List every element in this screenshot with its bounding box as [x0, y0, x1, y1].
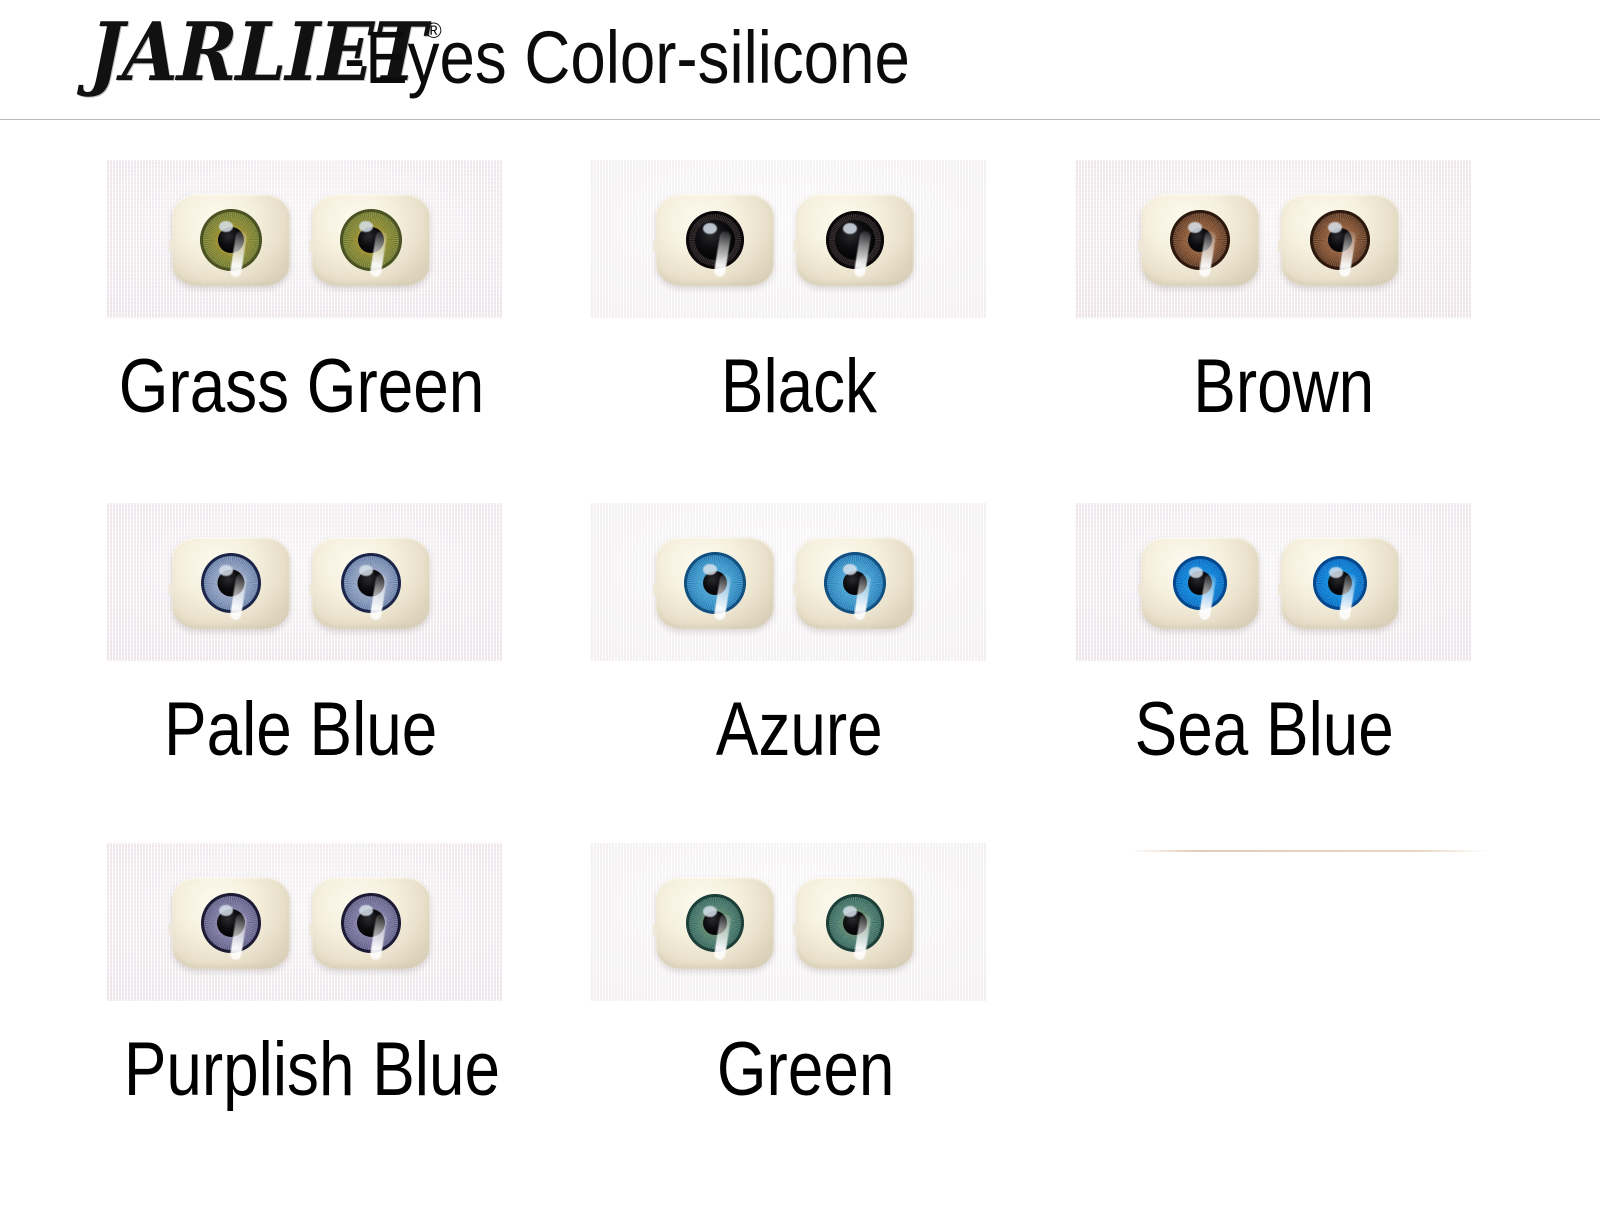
eye-color-label: Sea Blue: [1135, 687, 1394, 773]
eye-edge-notch: [653, 923, 659, 935]
stray-hairline-artifact: [1130, 850, 1488, 852]
silicone-eye-right: [312, 194, 430, 286]
pupil-glint: [359, 565, 373, 576]
eye-edge-notch: [169, 240, 175, 252]
pupil-glint: [1188, 222, 1202, 233]
eye-edge-notch: [793, 583, 799, 595]
silicone-eye-right: [312, 537, 430, 629]
eye-color-label: Black: [721, 344, 877, 430]
eye-color-label: Green: [717, 1027, 894, 1113]
photo-vignette: [590, 503, 986, 661]
silicone-eye-left: [1141, 194, 1259, 286]
eye-edge-notch: [169, 583, 175, 595]
eye-color-cell[interactable]: Brown: [1075, 160, 1471, 318]
silicone-eye-left: [656, 194, 774, 286]
photo-vignette: [1075, 160, 1471, 318]
eye-color-label: Brown: [1193, 344, 1374, 430]
silicone-eye-left: [172, 194, 290, 286]
pupil-glint: [359, 905, 373, 916]
eye-color-cell[interactable]: Azure: [590, 503, 986, 661]
eye-pair-photo[interactable]: [590, 503, 986, 661]
eye-color-cell[interactable]: Green: [590, 843, 986, 1001]
eye-pair-photo[interactable]: [590, 843, 986, 1001]
eye-edge-notch: [1138, 583, 1144, 595]
eye-color-label: Azure: [716, 687, 883, 773]
pupil-glint: [1189, 567, 1203, 578]
silicone-eye-left: [1141, 537, 1259, 629]
pupil-glint: [219, 565, 233, 576]
eye-pair-photo[interactable]: [106, 503, 502, 661]
eye-edge-notch: [653, 240, 659, 252]
eye-color-label: Grass Green: [119, 344, 484, 430]
eye-edge-notch: [1278, 240, 1284, 252]
photo-vignette: [106, 160, 502, 318]
eye-edge-notch: [793, 240, 799, 252]
silicone-eye-right: [796, 877, 914, 969]
photo-vignette: [590, 843, 986, 1001]
eye-color-cell[interactable]: Grass Green: [106, 160, 502, 318]
pupil-glint: [703, 223, 717, 234]
eye-pair-photo[interactable]: [1075, 503, 1471, 661]
eye-color-cell[interactable]: Purplish Blue: [106, 843, 502, 1001]
silicone-eye-left: [172, 877, 290, 969]
eye-edge-notch: [1138, 240, 1144, 252]
eye-pair-photo[interactable]: [106, 160, 502, 318]
eye-edge-notch: [653, 583, 659, 595]
eye-edge-notch: [309, 240, 315, 252]
eye-color-cell[interactable]: Pale Blue: [106, 503, 502, 661]
photo-vignette: [106, 503, 502, 661]
silicone-eye-left: [656, 537, 774, 629]
eye-edge-notch: [309, 923, 315, 935]
photo-vignette: [590, 160, 986, 318]
silicone-eye-right: [796, 537, 914, 629]
pupil-glint: [1328, 222, 1342, 233]
page-title: -Eyes Color-silicone: [344, 16, 910, 100]
page-header: JARLIET ® -Eyes Color-silicone: [0, 0, 1600, 120]
eye-edge-notch: [309, 583, 315, 595]
pupil-glint: [843, 223, 857, 234]
eye-pair-photo[interactable]: [590, 160, 986, 318]
eye-color-cell[interactable]: Sea Blue: [1075, 503, 1471, 661]
pupil-glint: [843, 906, 857, 917]
silicone-eye-right: [1281, 194, 1399, 286]
eye-color-cell[interactable]: Black: [590, 160, 986, 318]
eye-pair-photo[interactable]: [1075, 160, 1471, 318]
eye-color-label: Pale Blue: [164, 687, 437, 773]
pupil-glint: [703, 906, 717, 917]
silicone-eye-right: [312, 877, 430, 969]
eye-pair-photo[interactable]: [106, 843, 502, 1001]
silicone-eye-right: [1281, 537, 1399, 629]
pupil-glint: [219, 905, 233, 916]
photo-vignette: [1075, 503, 1471, 661]
photo-vignette: [106, 843, 502, 1001]
eye-color-label: Purplish Blue: [124, 1027, 500, 1113]
eye-edge-notch: [169, 923, 175, 935]
silicone-eye-left: [172, 537, 290, 629]
eye-edge-notch: [1278, 583, 1284, 595]
pupil-glint: [1329, 567, 1343, 578]
eye-edge-notch: [793, 923, 799, 935]
silicone-eye-right: [796, 194, 914, 286]
eye-color-grid: Grass GreenBlackBrownPale BlueAzureSea B…: [0, 120, 1600, 1231]
silicone-eye-left: [656, 877, 774, 969]
